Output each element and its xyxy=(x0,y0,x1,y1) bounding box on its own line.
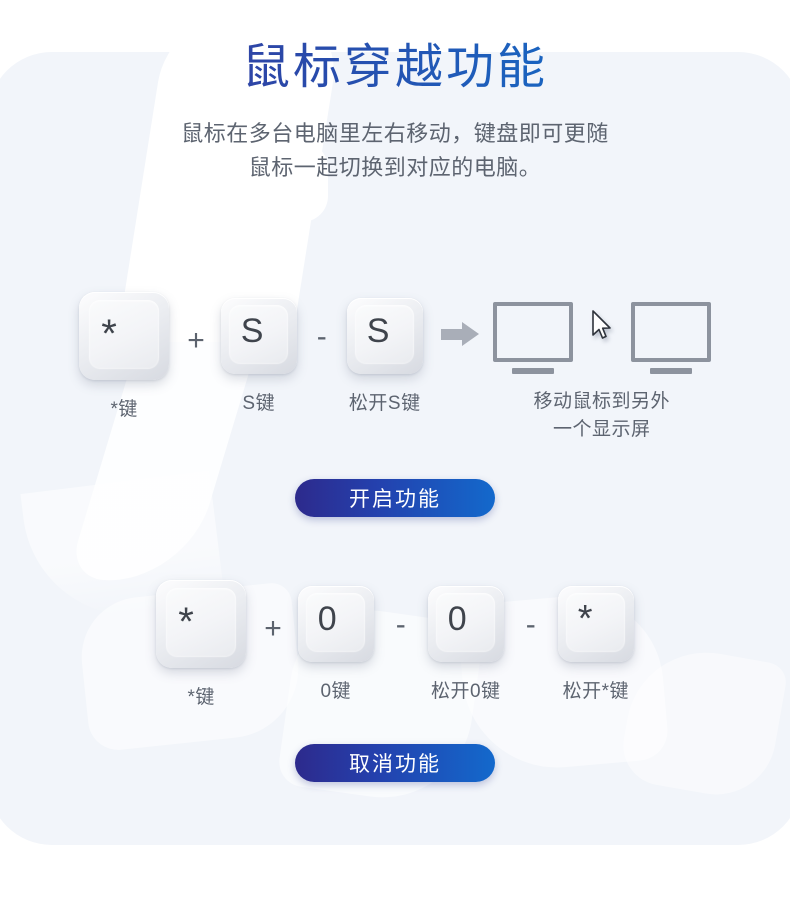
keycap-glyph: S xyxy=(367,314,390,348)
step-star-key[interactable]: * *键 xyxy=(156,580,246,709)
operator-plus: + xyxy=(264,614,282,644)
step-caption: 0键 xyxy=(320,676,351,703)
mouse-cursor-icon xyxy=(591,310,613,342)
minus-icon: - xyxy=(526,610,536,640)
step-release-zero-key[interactable]: 0 松开0键 xyxy=(428,586,504,703)
monitor-screen xyxy=(631,302,711,362)
plus-icon: + xyxy=(187,326,205,356)
monitor-icon xyxy=(493,302,573,374)
keycap-glyph: S xyxy=(241,314,264,348)
monitor-screen xyxy=(493,302,573,362)
arrow-right-icon xyxy=(441,322,479,346)
step-move-to-other-monitor: 移动鼠标到另外一个显示屏 xyxy=(493,302,711,443)
keycap-glyph: 0 xyxy=(318,602,337,636)
keycap-glyph: * xyxy=(101,314,117,354)
arrow-shaft xyxy=(441,329,463,340)
step-caption: *键 xyxy=(188,682,215,709)
step-release-star-key[interactable]: * 松开*键 xyxy=(558,586,634,703)
key-sequence-cancel: * *键 + 0 0键 - 0 松开0键 - * 松开*键 xyxy=(0,580,790,709)
keycap-glyph: * xyxy=(178,602,194,642)
minus-icon: - xyxy=(396,610,406,640)
keycap-zero[interactable]: 0 xyxy=(298,586,374,662)
minus-icon: - xyxy=(317,322,327,352)
keycap-star-release[interactable]: * xyxy=(558,586,634,662)
operator-minus: - xyxy=(526,610,536,640)
keycap-s-release[interactable]: S xyxy=(347,298,423,374)
operator-minus: - xyxy=(396,610,406,640)
step-caption: 松开0键 xyxy=(431,676,501,703)
subtitle-line-1: 鼠标在多台电脑里左右移动，键盘即可更随 xyxy=(181,121,609,146)
step-release-s-key[interactable]: S 松开S键 xyxy=(347,298,423,415)
page-title: 鼠标穿越功能 xyxy=(0,40,790,95)
monitor-icon xyxy=(631,302,711,374)
step-s-key[interactable]: S S键 xyxy=(221,298,297,415)
step-zero-key[interactable]: 0 0键 xyxy=(298,586,374,703)
keycap-s[interactable]: S xyxy=(221,298,297,374)
feature-content: 鼠标穿越功能 鼠标在多台电脑里左右移动，键盘即可更随 鼠标一起切换到对应的电脑。 xyxy=(0,0,790,185)
step-caption: S键 xyxy=(242,388,275,415)
monitor-group xyxy=(493,302,711,374)
step-caption: *键 xyxy=(111,394,138,421)
operator-minus: - xyxy=(317,322,327,352)
step-star-key[interactable]: * *键 xyxy=(79,292,169,421)
step-caption: 松开*键 xyxy=(563,676,629,703)
key-sequence-enable: * *键 + S S键 - S 松开S键 xyxy=(0,292,790,443)
step-caption: 移动鼠标到另外一个显示屏 xyxy=(527,388,677,443)
keycap-star[interactable]: * xyxy=(156,580,246,668)
page-subtitle: 鼠标在多台电脑里左右移动，键盘即可更随 鼠标一起切换到对应的电脑。 xyxy=(115,117,675,185)
keycap-glyph: 0 xyxy=(448,602,467,636)
keycap-star[interactable]: * xyxy=(79,292,169,380)
arrow-head xyxy=(462,322,479,346)
keycap-zero-release[interactable]: 0 xyxy=(428,586,504,662)
keycap-glyph: * xyxy=(578,600,593,638)
subtitle-line-2: 鼠标一起切换到对应的电脑。 xyxy=(249,155,542,180)
cancel-feature-button[interactable]: 取消功能 xyxy=(295,744,495,782)
monitor-stand xyxy=(512,368,554,374)
step-caption: 松开S键 xyxy=(349,388,421,415)
monitor-stand xyxy=(650,368,692,374)
step-arrow xyxy=(441,292,479,346)
plus-icon: + xyxy=(264,614,282,644)
enable-feature-button[interactable]: 开启功能 xyxy=(295,479,495,517)
operator-plus: + xyxy=(187,326,205,356)
